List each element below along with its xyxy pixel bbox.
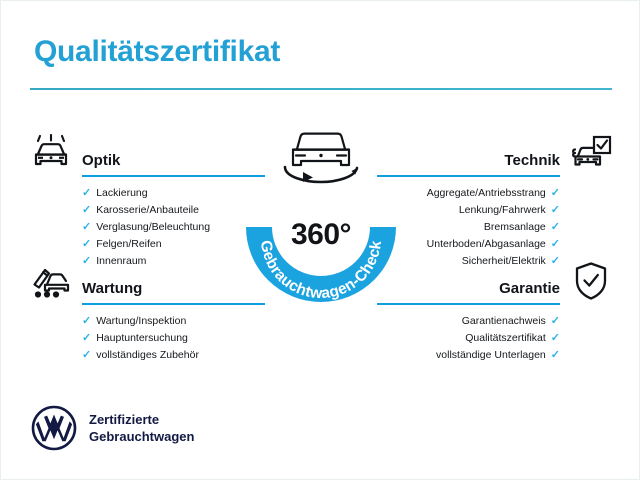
list-item: ✓Wartung/Inspektion <box>27 313 259 330</box>
section-title-optik: Optik <box>82 152 120 169</box>
list-item: ✓Aggregate/Antriebsstrang <box>383 185 615 202</box>
section-technik: Technik ✓Aggregate/Antriebsstrang ✓Lenku… <box>383 131 615 270</box>
check-icon: ✓ <box>551 333 560 344</box>
section-wartung: Wartung ✓Wartung/Inspektion ✓Hauptunters… <box>27 259 259 364</box>
check-icon: ✓ <box>82 188 91 199</box>
check-icon: ✓ <box>551 222 560 233</box>
checklist-technik: ✓Aggregate/Antriebsstrang ✓Lenkung/Fahrw… <box>383 185 615 270</box>
title-divider <box>30 88 612 90</box>
list-item: ✓Felgen/Reifen <box>27 236 259 253</box>
check-icon: ✓ <box>82 316 91 327</box>
section-divider-wartung <box>82 303 265 305</box>
list-item: ✓vollständige Unterlagen <box>383 347 615 364</box>
list-item-label: Aggregate/Antriebsstrang <box>427 185 546 202</box>
list-item-label: Qualitätszertifikat <box>465 330 546 347</box>
list-item-label: Lackierung <box>96 185 147 202</box>
car-wrench-icon <box>27 259 75 303</box>
list-item: ✓Lenkung/Fahrwerk <box>383 202 615 219</box>
list-item-label: Felgen/Reifen <box>96 236 161 253</box>
list-item-label: Bremsanlage <box>484 219 546 236</box>
car-checklist-icon <box>567 131 615 175</box>
section-optik: Optik ✓Lackierung ✓Karosserie/Anbauteile… <box>27 131 259 270</box>
quality-certificate-page: Qualitätszertifikat <box>0 0 640 480</box>
shield-check-icon <box>567 259 615 303</box>
check-icon: ✓ <box>551 188 560 199</box>
list-item: ✓Lackierung <box>27 185 259 202</box>
page-title: Qualitätszertifikat <box>34 35 280 69</box>
list-item-label: Unterboden/Abgasanlage <box>427 236 546 253</box>
checklist-garantie: ✓Garantienachweis ✓Qualitätszertifikat ✓… <box>383 313 615 364</box>
section-title-garantie: Garantie <box>499 280 560 297</box>
section-divider-garantie <box>377 303 560 305</box>
list-item: ✓Verglasung/Beleuchtung <box>27 219 259 236</box>
list-item: ✓vollständiges Zubehör <box>27 347 259 364</box>
section-title-technik: Technik <box>504 152 560 169</box>
section-divider-technik <box>377 175 560 177</box>
car-shine-icon <box>27 131 75 175</box>
check-icon: ✓ <box>551 316 560 327</box>
list-item-label: vollständige Unterlagen <box>436 347 546 364</box>
list-item-label: Verglasung/Beleuchtung <box>96 219 210 236</box>
section-divider-optik <box>82 175 265 177</box>
list-item: ✓Unterboden/Abgasanlage <box>383 236 615 253</box>
badge-degrees-label: 360° <box>239 218 403 252</box>
footer-line-2: Gebrauchtwagen <box>89 428 194 445</box>
check-icon: ✓ <box>551 239 560 250</box>
footer-line-1: Zertifizierte <box>89 411 194 428</box>
check-icon: ✓ <box>551 205 560 216</box>
list-item-label: Hauptuntersuchung <box>96 330 188 347</box>
section-header-technik: Technik <box>383 131 615 177</box>
badge-360-gebrauchtwagen-check: Gebrauchtwagen-Check 360° <box>239 119 403 307</box>
checklist-wartung: ✓Wartung/Inspektion ✓Hauptuntersuchung ✓… <box>27 313 259 364</box>
footer-text: Zertifizierte Gebrauchtwagen <box>89 411 194 445</box>
list-item: ✓Karosserie/Anbauteile <box>27 202 259 219</box>
list-item: ✓Hauptuntersuchung <box>27 330 259 347</box>
list-item-label: Wartung/Inspektion <box>96 313 186 330</box>
list-item-label: Karosserie/Anbauteile <box>96 202 199 219</box>
check-icon: ✓ <box>551 350 560 361</box>
footer-brand: Zertifizierte Gebrauchtwagen <box>31 405 194 451</box>
list-item: ✓Bremsanlage <box>383 219 615 236</box>
section-header-wartung: Wartung <box>27 259 259 305</box>
list-item-label: vollständiges Zubehör <box>96 347 199 364</box>
section-header-garantie: Garantie <box>383 259 615 305</box>
check-icon: ✓ <box>82 222 91 233</box>
section-header-optik: Optik <box>27 131 259 177</box>
vw-logo-icon <box>31 405 77 451</box>
list-item: ✓Garantienachweis <box>383 313 615 330</box>
list-item-label: Garantienachweis <box>462 313 546 330</box>
check-icon: ✓ <box>82 205 91 216</box>
list-item: ✓Qualitätszertifikat <box>383 330 615 347</box>
list-item-label: Lenkung/Fahrwerk <box>459 202 546 219</box>
section-garantie: Garantie ✓Garantienachweis ✓Qualitätszer… <box>383 259 615 364</box>
check-icon: ✓ <box>82 239 91 250</box>
checklist-optik: ✓Lackierung ✓Karosserie/Anbauteile ✓Verg… <box>27 185 259 270</box>
section-title-wartung: Wartung <box>82 280 142 297</box>
check-icon: ✓ <box>82 350 91 361</box>
check-icon: ✓ <box>82 333 91 344</box>
car-rotate-360-icon <box>285 134 357 182</box>
